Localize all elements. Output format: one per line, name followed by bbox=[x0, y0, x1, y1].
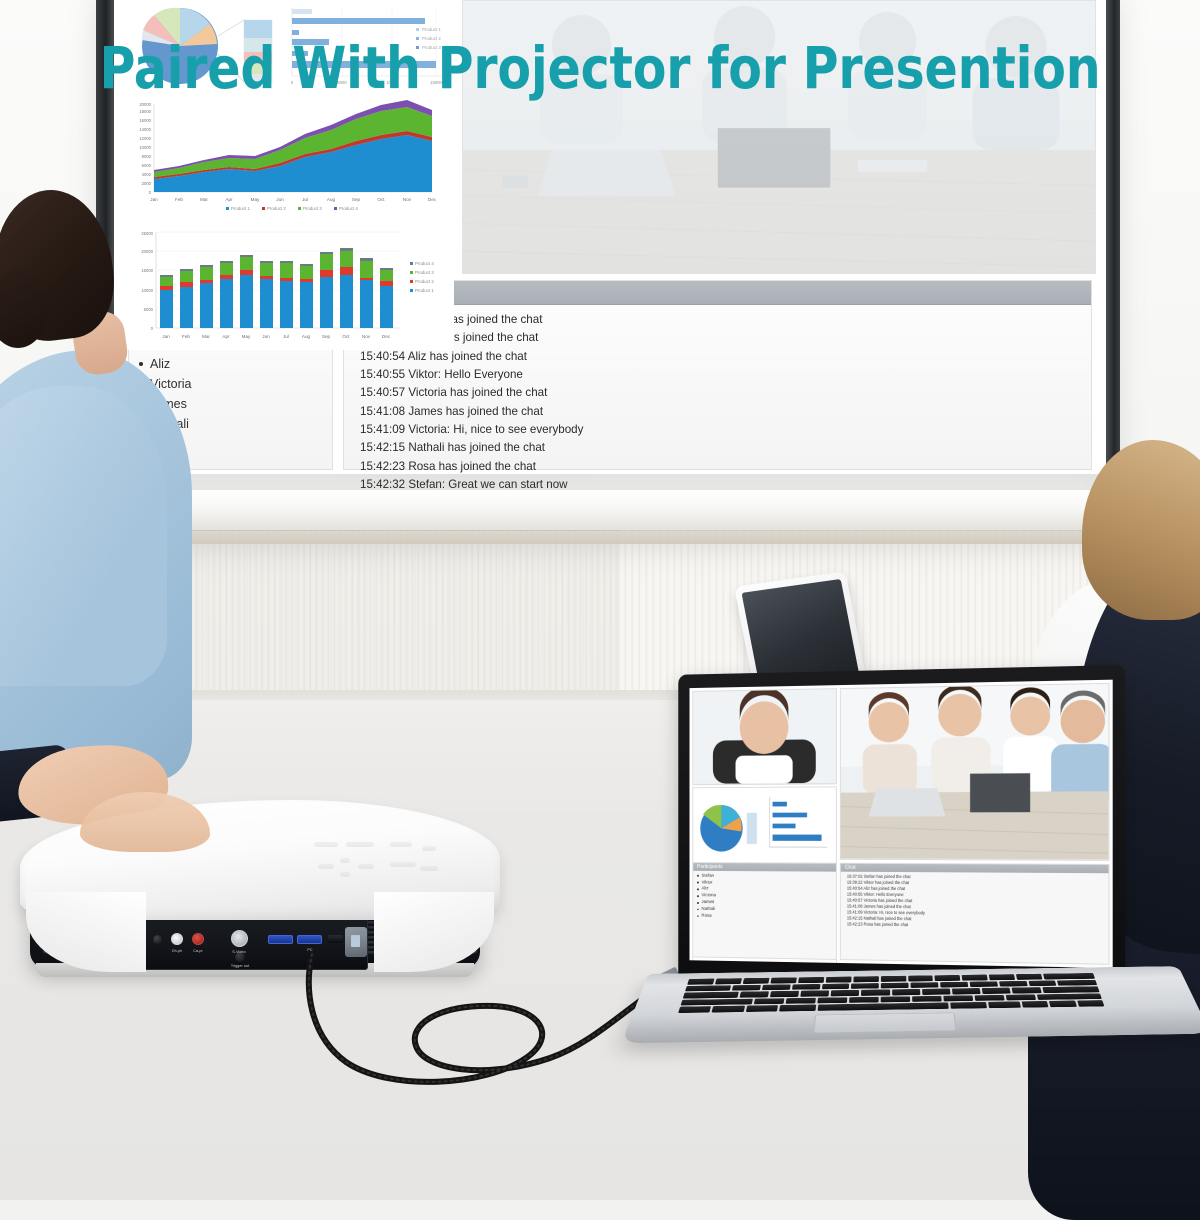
control-button-left[interactable] bbox=[318, 864, 334, 869]
adapter-face bbox=[351, 935, 360, 947]
svg-text:Jun: Jun bbox=[276, 197, 284, 202]
svg-text:18000: 18000 bbox=[139, 109, 151, 114]
svg-text:Apr: Apr bbox=[222, 334, 230, 339]
key[interactable] bbox=[982, 988, 1011, 994]
key[interactable] bbox=[1012, 987, 1041, 993]
chat-message: 15:41:09 Victoria: Hi, nice to see every… bbox=[360, 421, 1091, 439]
key[interactable] bbox=[911, 982, 939, 988]
person-left-shoulder bbox=[0, 386, 167, 686]
key[interactable] bbox=[754, 998, 785, 1004]
rca-red-port[interactable] bbox=[192, 933, 204, 945]
bullet-icon bbox=[697, 888, 699, 890]
key[interactable] bbox=[1057, 980, 1097, 986]
screen-ledge bbox=[106, 531, 1126, 544]
svg-text:Feb: Feb bbox=[182, 334, 190, 339]
chat-message: 15:42:23 Rosa has joined the chat bbox=[360, 458, 1091, 476]
key[interactable] bbox=[792, 984, 820, 990]
laptop-chat-panel: Chat 15:37:02 Stefan has joined the chat… bbox=[840, 862, 1110, 965]
laptop-lid: Participants Stefan Viktor Aliz Victoria… bbox=[678, 665, 1125, 995]
vga-port-1[interactable] bbox=[268, 935, 293, 944]
key[interactable] bbox=[762, 984, 791, 990]
laptop-mirrored-slide: Participants Stefan Viktor Aliz Victoria… bbox=[690, 680, 1113, 968]
key[interactable] bbox=[853, 976, 879, 982]
key[interactable] bbox=[880, 996, 909, 1002]
key[interactable] bbox=[1005, 994, 1035, 1000]
bullet-icon bbox=[697, 915, 699, 917]
svg-text:Apr: Apr bbox=[225, 197, 233, 202]
key-alt-right[interactable] bbox=[988, 1002, 1020, 1008]
svg-text:Product 3: Product 3 bbox=[415, 270, 434, 275]
svg-text:Product 3: Product 3 bbox=[303, 206, 322, 211]
product-marketing-scene: 0 5000 10000 15000 Product 1 Product 2 P… bbox=[0, 0, 1200, 1200]
chat-message: 15:37:02 Stefan has joined the chat bbox=[360, 311, 1091, 329]
bullet-icon bbox=[697, 882, 699, 884]
key-cmd[interactable] bbox=[779, 1005, 816, 1012]
bullet-icon bbox=[697, 902, 699, 904]
indicator-lamp bbox=[422, 846, 436, 851]
control-button-menu[interactable] bbox=[346, 842, 374, 847]
svg-text:12000: 12000 bbox=[139, 136, 151, 141]
chat-message: 15:40:57 Victoria has joined the chat bbox=[360, 384, 1091, 402]
svg-text:Product 4: Product 4 bbox=[415, 261, 434, 266]
key[interactable] bbox=[770, 977, 796, 983]
svg-text:May: May bbox=[242, 334, 251, 339]
key-alt[interactable] bbox=[746, 1005, 779, 1012]
hand-on-projector bbox=[80, 792, 210, 852]
svg-text:Oct: Oct bbox=[377, 197, 385, 202]
key[interactable] bbox=[743, 978, 770, 984]
svg-text:Sep: Sep bbox=[322, 334, 331, 339]
key[interactable] bbox=[770, 991, 799, 997]
control-button-right[interactable] bbox=[358, 864, 374, 869]
key[interactable] bbox=[817, 997, 847, 1003]
screen-roller-bar bbox=[90, 490, 1130, 530]
key-shift-right[interactable] bbox=[1036, 993, 1102, 1000]
key[interactable] bbox=[943, 995, 973, 1001]
svg-text:May: May bbox=[251, 197, 260, 202]
svg-text:Oct: Oct bbox=[342, 334, 350, 339]
chart-stacked-area: 0 2000 4000 6000 8000 10000 12000 14000 bbox=[124, 96, 454, 218]
svg-text:Product 1: Product 1 bbox=[422, 27, 441, 32]
key-tab[interactable] bbox=[685, 985, 731, 991]
port-label: S-Video bbox=[232, 950, 245, 954]
key-ctrl[interactable] bbox=[712, 1006, 745, 1013]
key[interactable] bbox=[1028, 980, 1057, 986]
key[interactable] bbox=[732, 985, 761, 991]
key[interactable] bbox=[962, 975, 988, 981]
chat-message: 15:42:32 Stefan: Great we can start now bbox=[360, 476, 1091, 494]
list-item: Rosa bbox=[697, 913, 832, 921]
vga-port-2[interactable] bbox=[297, 935, 322, 944]
key[interactable] bbox=[974, 995, 1004, 1001]
svg-text:Dec: Dec bbox=[428, 197, 437, 202]
svg-text:Product 2: Product 2 bbox=[267, 206, 286, 211]
laptop-device[interactable]: Participants Stefan Viktor Aliz Victoria… bbox=[650, 670, 1190, 1110]
chart-stacked-column: 0 5000 10000 15000 20000 25000 Jan Feb M… bbox=[124, 222, 454, 350]
person-left-viewer bbox=[0, 150, 167, 870]
chat-title: Chat bbox=[344, 281, 1091, 305]
svg-text:Product 4: Product 4 bbox=[339, 206, 358, 211]
chat-message: 15:41:08 James has joined the chat bbox=[360, 403, 1091, 421]
key[interactable] bbox=[969, 981, 997, 987]
audio-in-jack-port[interactable] bbox=[153, 935, 162, 944]
chat-message: 15:42:15 Nathali has joined the chat bbox=[360, 439, 1091, 457]
key-space[interactable] bbox=[818, 1003, 949, 1011]
key[interactable] bbox=[999, 981, 1028, 987]
indicator-temp bbox=[420, 866, 438, 871]
key-enter[interactable] bbox=[1042, 986, 1100, 993]
control-button-power[interactable] bbox=[390, 842, 412, 847]
svg-text:Nov: Nov bbox=[362, 334, 371, 339]
projector-control-buttons[interactable] bbox=[310, 838, 440, 900]
chat-message: 15:39:22 Viktor has joined the chat bbox=[360, 329, 1091, 347]
svg-text:Jun: Jun bbox=[262, 334, 270, 339]
key[interactable] bbox=[922, 989, 951, 995]
key[interactable] bbox=[952, 988, 981, 994]
bullet-icon bbox=[697, 895, 699, 897]
chat-panel: Chat 15:37:02 Stefan has joined the chat… bbox=[343, 280, 1092, 470]
key[interactable] bbox=[851, 983, 879, 989]
key[interactable] bbox=[935, 975, 961, 981]
laptop-screen: Participants Stefan Viktor Aliz Victoria… bbox=[690, 680, 1113, 968]
key[interactable] bbox=[880, 976, 905, 982]
svg-text:Mar: Mar bbox=[200, 197, 208, 202]
svg-text:Feb: Feb bbox=[175, 197, 183, 202]
key[interactable] bbox=[831, 990, 860, 996]
port-label: Oh-ph bbox=[172, 949, 183, 953]
svg-text:Sep: Sep bbox=[352, 197, 361, 202]
chat-log[interactable]: 15:37:02 Stefan has joined the chat 15:3… bbox=[344, 305, 1091, 494]
key-backspace[interactable] bbox=[1043, 973, 1095, 979]
svg-text:Aug: Aug bbox=[327, 197, 336, 202]
key[interactable] bbox=[687, 979, 714, 985]
key-arrow-updown[interactable] bbox=[1049, 1001, 1076, 1007]
svg-text:Jul: Jul bbox=[283, 334, 289, 339]
bullet-icon bbox=[697, 875, 699, 877]
key[interactable] bbox=[849, 997, 879, 1003]
key[interactable] bbox=[1016, 974, 1042, 980]
key[interactable] bbox=[989, 974, 1015, 980]
laptop-video-tile-presenter bbox=[692, 688, 837, 785]
svg-text:14000: 14000 bbox=[139, 127, 151, 132]
key-cmd-right[interactable] bbox=[950, 1002, 987, 1009]
svg-text:Aug: Aug bbox=[302, 334, 311, 339]
control-button-keystone[interactable] bbox=[390, 862, 416, 867]
key[interactable] bbox=[861, 990, 889, 996]
svg-text:Product 1: Product 1 bbox=[415, 288, 434, 293]
key[interactable] bbox=[892, 989, 920, 995]
port-label: Trigger out bbox=[231, 964, 249, 968]
laptop-chart-pie-hbar bbox=[692, 786, 837, 870]
chat-message: 15:40:55 Viktor: Hello Everyone bbox=[360, 366, 1091, 384]
key[interactable] bbox=[881, 982, 909, 988]
key-arrow-right[interactable] bbox=[1077, 1000, 1105, 1006]
chat-message: 15:40:54 Aliz has joined the chat bbox=[360, 348, 1091, 366]
key[interactable] bbox=[786, 998, 816, 1004]
laptop-trackpad[interactable] bbox=[813, 1013, 956, 1034]
svg-text:Nov: Nov bbox=[403, 197, 412, 202]
participant-name: Rosa bbox=[702, 913, 712, 920]
key[interactable] bbox=[908, 975, 934, 981]
svg-text:16000: 16000 bbox=[139, 118, 151, 123]
key-arrow-left[interactable] bbox=[1021, 1001, 1048, 1007]
key-shift[interactable] bbox=[680, 999, 753, 1006]
key[interactable] bbox=[940, 982, 968, 988]
svg-text:Product 2: Product 2 bbox=[415, 279, 434, 284]
control-button-up[interactable] bbox=[340, 858, 350, 863]
hdmi-port[interactable] bbox=[328, 935, 343, 943]
svg-text:20000: 20000 bbox=[139, 102, 151, 107]
laptop-base[interactable] bbox=[621, 966, 1200, 1043]
key[interactable] bbox=[822, 983, 850, 989]
rca-white-port[interactable] bbox=[171, 933, 183, 945]
laptop-participants-panel: Participants Stefan Viktor Aliz Victoria… bbox=[692, 862, 837, 960]
key[interactable] bbox=[800, 990, 829, 996]
laptop-keyboard[interactable] bbox=[678, 973, 1104, 1013]
key-fn[interactable] bbox=[678, 1006, 711, 1013]
s-video-port[interactable] bbox=[231, 930, 248, 947]
key[interactable] bbox=[825, 977, 851, 983]
key[interactable] bbox=[739, 991, 769, 997]
control-button-down[interactable] bbox=[340, 872, 350, 877]
key[interactable] bbox=[715, 978, 742, 984]
key-capslock[interactable] bbox=[683, 992, 739, 999]
laptop-video-tile-room bbox=[840, 683, 1110, 861]
port-label: Ca-pr bbox=[193, 949, 203, 953]
svg-text:Dec: Dec bbox=[382, 334, 391, 339]
svg-text:Product 1: Product 1 bbox=[231, 206, 250, 211]
control-button-source[interactable] bbox=[314, 842, 338, 847]
key[interactable] bbox=[798, 977, 824, 983]
key[interactable] bbox=[912, 996, 942, 1002]
page-title: Paired With Projector for Presention bbox=[36, 34, 1164, 102]
svg-text:Jul: Jul bbox=[302, 197, 308, 202]
bullet-icon bbox=[697, 908, 699, 910]
svg-text:Mar: Mar bbox=[202, 334, 210, 339]
